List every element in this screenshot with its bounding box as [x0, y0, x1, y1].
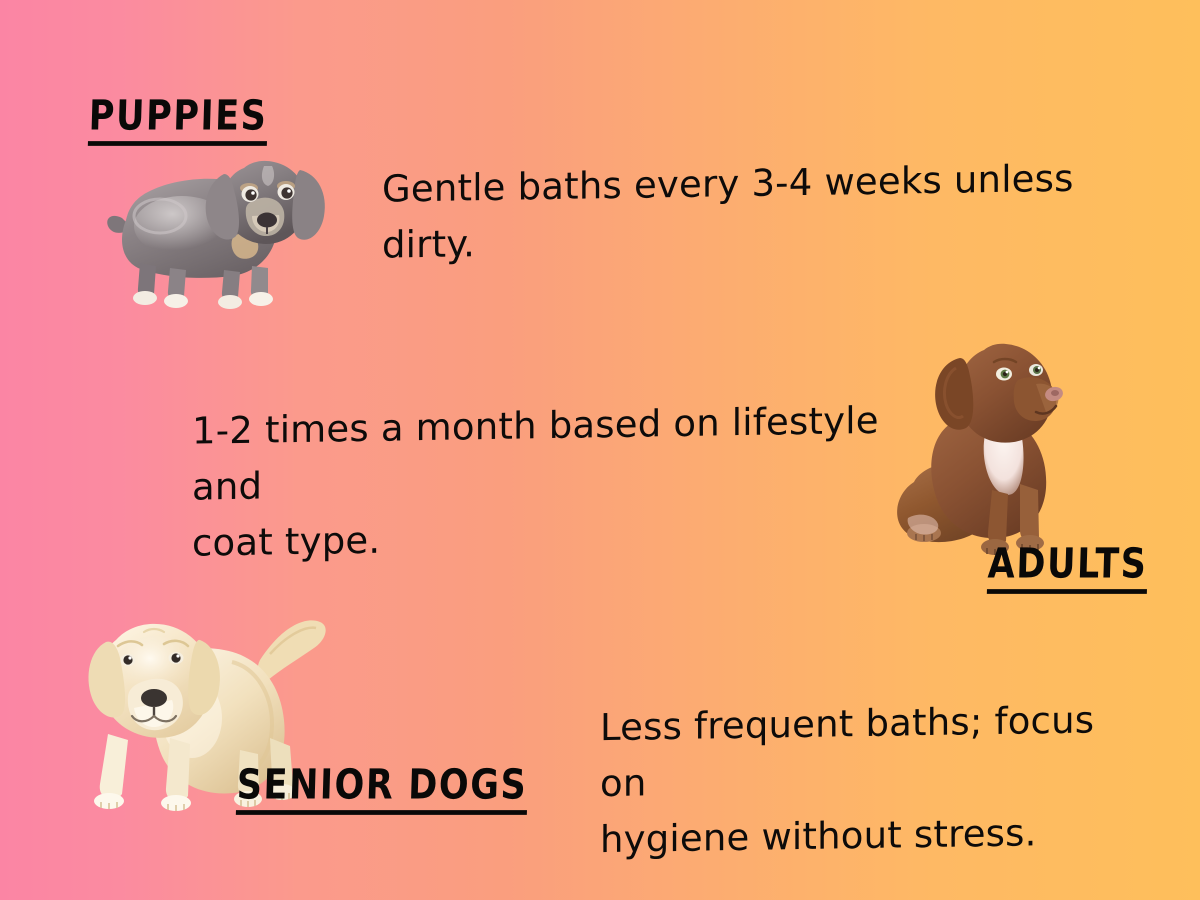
label-senior-dogs-text: SENIOR DOGS	[236, 762, 528, 815]
body-text-senior: Less frequent baths; focus on hygiene wi…	[600, 692, 1130, 869]
body-text-puppies: Gentle baths every 3-4 weeks unless dirt…	[382, 150, 1102, 274]
poster-canvas: PUPPIES Gentle baths every 3-4 weeks unl…	[0, 0, 1200, 900]
label-adults: ADULTS	[987, 541, 1148, 588]
body-text-adults: 1-2 times a month based on lifestyle and…	[192, 392, 912, 572]
label-puppies: PUPPIES	[88, 93, 268, 140]
label-adults-text: ADULTS	[987, 541, 1148, 594]
label-puppies-text: PUPPIES	[88, 93, 268, 146]
label-senior-dogs: SENIOR DOGS	[236, 762, 528, 809]
